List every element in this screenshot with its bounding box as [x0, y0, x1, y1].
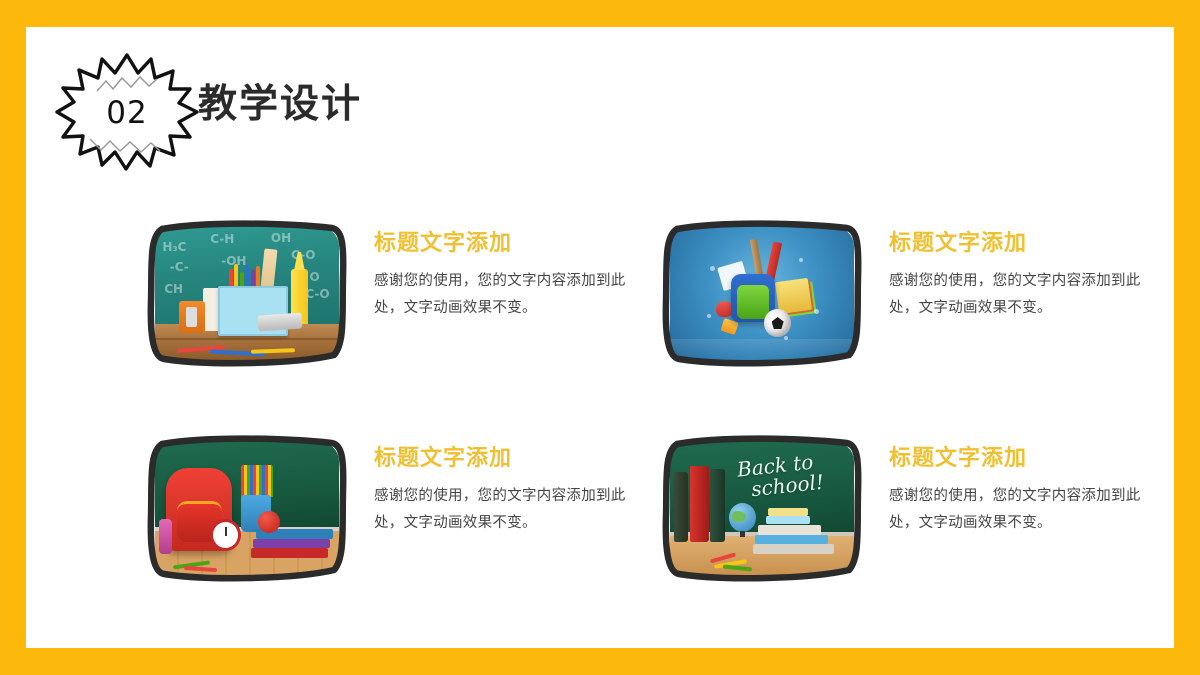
starburst-badge-icon: 02 — [56, 51, 198, 173]
slide: 02 教学设计 H₃C C-H OH -C- -OH — [0, 0, 1200, 675]
card-1[interactable]: H₃C C-H OH -C- -OH C-O CH O -C-O — [146, 217, 646, 387]
card-3[interactable]: 标题文字添加 感谢您的使用，您的文字内容添加到此处，文字动画效果不变。 — [146, 432, 646, 602]
card-4-title: 标题文字添加 — [889, 446, 1157, 470]
badge-number: 02 — [56, 51, 198, 173]
card-1-thumbnail[interactable]: H₃C C-H OH -C- -OH C-O CH O -C-O — [146, 217, 348, 369]
card-4[interactable]: Back to school! — [661, 432, 1161, 602]
card-3-body: 感谢您的使用，您的文字内容添加到此处，文字动画效果不变。 — [374, 483, 642, 537]
card-4-text: 标题文字添加 感谢您的使用，您的文字内容添加到此处，文字动画效果不变。 — [889, 446, 1157, 537]
card-2-body: 感谢您的使用，您的文字内容添加到此处，文字动画效果不变。 — [889, 268, 1157, 322]
page-title: 教学设计 — [198, 85, 362, 124]
content-grid: H₃C C-H OH -C- -OH C-O CH O -C-O — [146, 217, 1156, 597]
card-2-title: 标题文字添加 — [889, 231, 1157, 255]
slide-white-panel: 02 教学设计 H₃C C-H OH -C- -OH — [26, 27, 1174, 648]
card-2-text: 标题文字添加 感谢您的使用，您的文字内容添加到此处，文字动画效果不变。 — [889, 231, 1157, 322]
card-3-thumbnail[interactable] — [146, 432, 348, 584]
card-3-title: 标题文字添加 — [374, 446, 642, 470]
card-1-title: 标题文字添加 — [374, 231, 642, 255]
card-4-body: 感谢您的使用，您的文字内容添加到此处，文字动画效果不变。 — [889, 483, 1157, 537]
card-4-thumbnail[interactable]: Back to school! — [661, 432, 863, 584]
card-1-body: 感谢您的使用，您的文字内容添加到此处，文字动画效果不变。 — [374, 268, 642, 322]
card-3-text: 标题文字添加 感谢您的使用，您的文字内容添加到此处，文字动画效果不变。 — [374, 446, 642, 537]
card-1-text: 标题文字添加 感谢您的使用，您的文字内容添加到此处，文字动画效果不变。 — [374, 231, 642, 322]
card-2[interactable]: 标题文字添加 感谢您的使用，您的文字内容添加到此处，文字动画效果不变。 — [661, 217, 1161, 387]
card-2-thumbnail[interactable] — [661, 217, 863, 369]
slide-header: 02 教学设计 — [26, 27, 1174, 177]
